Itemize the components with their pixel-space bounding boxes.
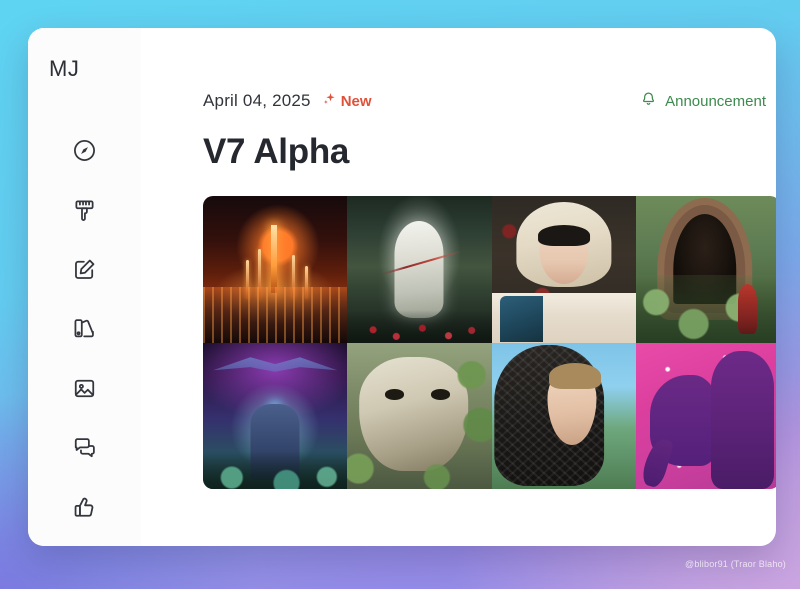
date-group: April 04, 2025 New (203, 91, 372, 111)
sparkle-icon (322, 91, 337, 111)
decor-person-silhouette (711, 351, 774, 489)
announcement-label: Announcement (665, 93, 766, 110)
new-badge: New (322, 91, 372, 111)
compass-icon (72, 138, 97, 163)
gallery-image-5[interactable] (203, 343, 347, 490)
page-title: V7 Alpha (203, 132, 776, 172)
gallery-image-6[interactable] (347, 343, 491, 490)
brand-logo: MJ (49, 56, 79, 82)
decor-collar (492, 293, 636, 343)
gallery-image-4[interactable] (636, 196, 776, 343)
gallery-image-7[interactable] (492, 343, 636, 490)
bell-icon (640, 90, 657, 112)
sidebar-item-rate[interactable] (63, 487, 107, 528)
sidebar: MJ (28, 28, 141, 546)
sidebar-item-personalize[interactable] (63, 308, 107, 349)
decor-hair (549, 363, 601, 389)
edit-square-icon (72, 257, 97, 282)
image-icon (72, 376, 97, 401)
gallery-image-2[interactable] (347, 196, 491, 343)
palette-icon (72, 316, 97, 341)
sidebar-item-explore[interactable] (63, 130, 107, 171)
gallery-image-8[interactable] (636, 343, 776, 490)
paintbrush-icon (72, 198, 97, 223)
main-content: April 04, 2025 New (141, 28, 776, 546)
top-bar: April 04, 2025 New (203, 90, 776, 112)
sidebar-item-create[interactable] (63, 189, 107, 230)
announcement-button[interactable]: Announcement (640, 90, 766, 112)
post-date: April 04, 2025 (203, 91, 311, 111)
thumbs-up-icon (72, 495, 97, 520)
chat-icon (72, 435, 97, 460)
new-label: New (341, 93, 372, 110)
image-grid (203, 196, 776, 489)
sidebar-item-chat[interactable] (63, 427, 107, 468)
app-card: MJ (28, 28, 776, 546)
watermark: @blibor91 (Traor Blaho) (685, 559, 786, 569)
sidebar-item-organize[interactable] (63, 368, 107, 409)
decor-moss (347, 343, 491, 490)
decor-hair (538, 225, 590, 246)
sidebar-item-edit[interactable] (63, 249, 107, 290)
decor-wings (213, 354, 337, 392)
gallery-image-1[interactable] (203, 196, 347, 343)
decor-red-figure (738, 284, 757, 334)
decor-petals (347, 310, 491, 342)
gallery-image-3[interactable] (492, 196, 636, 343)
decor-monolith (251, 404, 300, 480)
